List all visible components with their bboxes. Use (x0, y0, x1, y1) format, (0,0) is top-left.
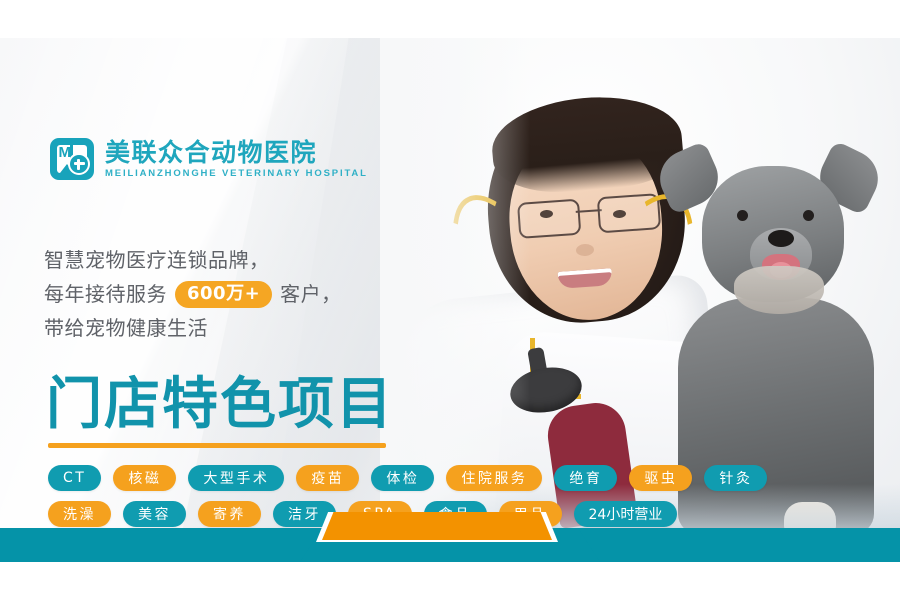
tagline-text-2b: 客户， (280, 277, 342, 311)
tagline-text-2a: 每年接待服务 (44, 277, 167, 311)
photo-left-fade (380, 38, 530, 528)
brand-name-en: MEILIANZHONGHE VETERINARY HOSPITAL (105, 168, 368, 179)
eye-right (613, 210, 627, 219)
veterinarian-with-dog-photo (380, 38, 900, 528)
footer-bar (0, 522, 900, 562)
tagline-text-3: 带给宠物健康生活 (44, 311, 208, 345)
face (504, 129, 669, 325)
hair (479, 92, 694, 330)
tagline: 智慧宠物医疗连锁品牌， 每年接待服务 600万+ 客户， 带给宠物健康生活 (44, 243, 342, 345)
medical-cross-icon (68, 153, 90, 175)
smiling-mouth (557, 268, 612, 289)
dog-eye-left (737, 210, 748, 221)
service-tag[interactable]: 针灸 (704, 465, 767, 491)
service-tag[interactable]: 核磁 (113, 465, 176, 491)
tagline-text-1: 智慧宠物医疗连锁品牌， (44, 243, 270, 277)
stethoscope-tube-lower (530, 338, 581, 399)
service-tag[interactable]: 驱虫 (629, 465, 692, 491)
brand-logo[interactable]: M 美联众合动物医院 MEILIANZHONGHE VETERINARY HOS… (50, 138, 368, 180)
dog-tongue (770, 262, 792, 278)
dog-beard (734, 266, 824, 314)
brand-name-cn: 美联众合动物医院 (105, 139, 368, 166)
stethoscope-tube-left (431, 179, 584, 377)
book-medical-cross-icon: M (50, 138, 94, 180)
glasses-bridge (576, 209, 602, 213)
dog-mouth (762, 254, 800, 280)
tagline-line-1: 智慧宠物医疗连锁品牌， (44, 243, 342, 277)
dog-snout (750, 228, 812, 280)
photo-background (380, 38, 900, 528)
page-title: 门店特色项目 (46, 375, 394, 435)
hair-fringe (488, 90, 685, 198)
dog-ear-right (811, 140, 888, 216)
service-tag[interactable]: 大型手术 (188, 465, 284, 491)
dog-eye-right (803, 210, 814, 221)
service-tag[interactable]: 疫苗 (296, 465, 359, 491)
customer-count-badge: 600万+ (175, 281, 272, 308)
lens-right (597, 193, 661, 233)
service-tag-row-1: CT核磁大型手术疫苗体检住院服务绝育驱虫针灸 (48, 465, 767, 491)
lens-left (517, 199, 581, 239)
stethoscope-tube-right (560, 178, 716, 384)
service-tag[interactable]: 绝育 (554, 465, 617, 491)
service-tag[interactable]: CT (48, 465, 101, 491)
service-tag[interactable]: 住院服务 (446, 465, 542, 491)
dog-head (702, 166, 844, 302)
stethoscope-chestpiece (507, 362, 586, 418)
eye-left (540, 210, 554, 219)
footer-tab (322, 512, 552, 540)
dog-nose (768, 230, 794, 247)
tagline-line-3: 带给宠物健康生活 (44, 311, 342, 345)
title-underline (48, 443, 386, 448)
eyeglasses-icon (515, 193, 663, 237)
nose (576, 243, 595, 256)
promo-banner: M 美联众合动物医院 MEILIANZHONGHE VETERINARY HOS… (0, 38, 900, 562)
tagline-line-2: 每年接待服务 600万+ 客户， (44, 277, 342, 311)
service-tag[interactable]: 体检 (371, 465, 434, 491)
stethoscope-stem (527, 347, 549, 383)
dog-ear-left (651, 141, 727, 216)
